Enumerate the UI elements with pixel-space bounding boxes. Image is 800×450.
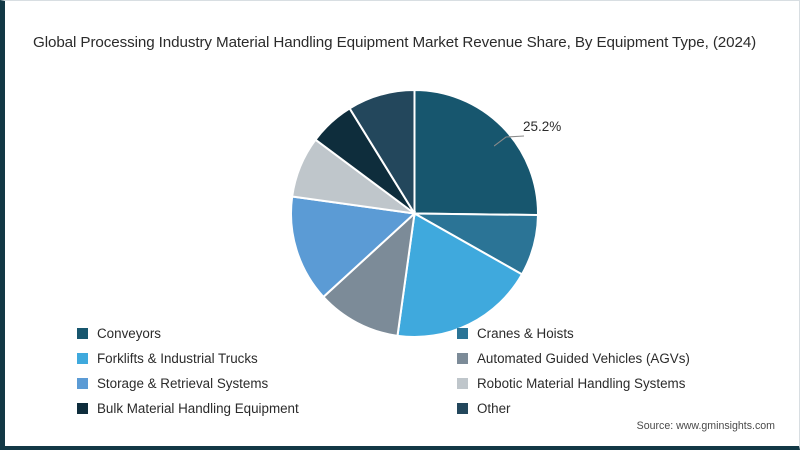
data-label-leader-line — [494, 133, 524, 147]
legend-swatch-icon — [77, 403, 88, 414]
source-caption: Source: www.gminsights.com — [637, 420, 775, 432]
legend-item-label: Cranes & Hoists — [477, 327, 574, 340]
legend-item-label: Other — [477, 402, 511, 415]
legend-swatch-icon — [457, 328, 468, 339]
pie-slice — [415, 90, 539, 215]
legend-item[interactable]: Cranes & Hoists — [457, 321, 777, 346]
legend-item[interactable]: Storage & Retrieval Systems — [77, 371, 457, 396]
chart-card: Global Processing Industry Material Hand… — [0, 0, 800, 450]
legend-item-label: Storage & Retrieval Systems — [97, 377, 268, 390]
legend-swatch-icon — [457, 353, 468, 364]
legend-item[interactable]: Bulk Material Handling Equipment — [77, 396, 457, 421]
pie-data-label: 25.2% — [523, 119, 561, 134]
legend-item-label: Forklifts & Industrial Trucks — [97, 352, 258, 365]
legend-item[interactable]: Robotic Material Handling Systems — [457, 371, 777, 396]
page-title: Global Processing Industry Material Hand… — [33, 34, 778, 51]
pie-chart — [290, 89, 539, 338]
legend-swatch-icon — [77, 328, 88, 339]
legend-column-left: ConveyorsForklifts & Industrial TrucksSt… — [77, 321, 457, 421]
legend-column-right: Cranes & HoistsAutomated Guided Vehicles… — [457, 321, 777, 421]
legend-item[interactable]: Conveyors — [77, 321, 457, 346]
legend-item[interactable]: Automated Guided Vehicles (AGVs) — [457, 346, 777, 371]
pie-svg — [290, 89, 539, 338]
legend-swatch-icon — [457, 378, 468, 389]
legend-swatch-icon — [77, 378, 88, 389]
legend-swatch-icon — [77, 353, 88, 364]
legend-item[interactable]: Other — [457, 396, 777, 421]
legend-item[interactable]: Forklifts & Industrial Trucks — [77, 346, 457, 371]
left-accent-rule — [8, 1, 10, 446]
legend-item-label: Conveyors — [97, 327, 161, 340]
legend-swatch-icon — [457, 403, 468, 414]
legend-item-label: Robotic Material Handling Systems — [477, 377, 685, 390]
pie-slice-group — [291, 90, 538, 337]
legend-item-label: Automated Guided Vehicles (AGVs) — [477, 352, 690, 365]
legend-item-label: Bulk Material Handling Equipment — [97, 402, 299, 415]
